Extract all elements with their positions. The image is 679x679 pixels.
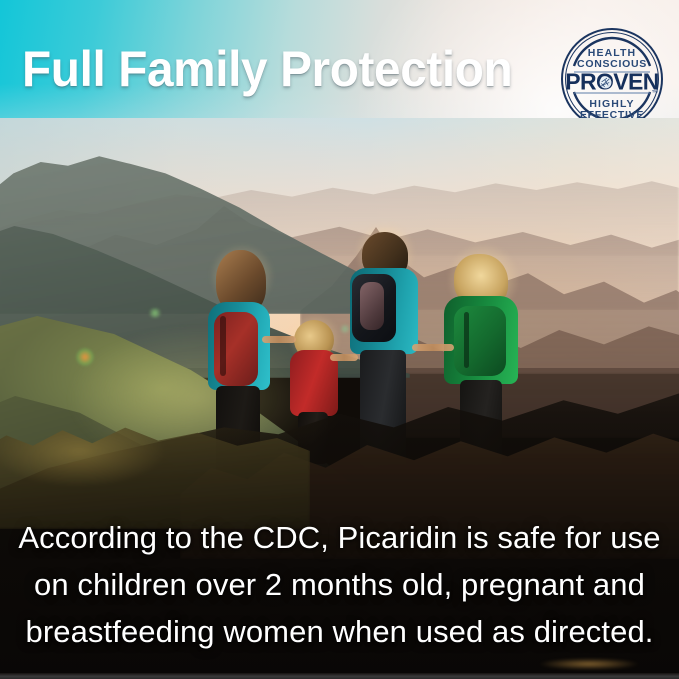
proven-badge-graphic: HEALTH CONSCIOUS PROVEN HIGHLY EFFECTIVE… xyxy=(560,27,664,131)
joined-hands-woman-toddler xyxy=(262,336,296,343)
proven-badge: HEALTH CONSCIOUS PROVEN HIGHLY EFFECTIVE… xyxy=(560,27,664,131)
badge-wordmark: PROVEN xyxy=(565,69,659,95)
page-title: Full Family Protection xyxy=(22,38,519,100)
bottom-edge-strip xyxy=(0,673,679,679)
woman-backpack-strap xyxy=(220,316,226,376)
caption-line-3: breastfeeding women when used as directe… xyxy=(0,608,679,655)
joined-hands-boy-girl xyxy=(412,344,454,351)
joined-hands-toddler-boy xyxy=(330,354,358,361)
girl-backpack-strap xyxy=(464,312,469,368)
caption-line-2: on children over 2 months old, pregnant … xyxy=(0,561,679,608)
girl-backpack xyxy=(454,306,506,376)
product-lifestyle-image: Full Family Protection HEALTH CONSCIOUS … xyxy=(0,0,679,679)
mosquito-icon xyxy=(600,77,612,89)
boy-backpack-trim xyxy=(360,282,384,330)
caption-line-1: According to the CDC, Picaridin is safe … xyxy=(0,514,679,561)
caption-block: According to the CDC, Picaridin is safe … xyxy=(0,514,679,655)
foreground-lit-edge xyxy=(499,653,649,675)
trademark-symbol: ™ xyxy=(652,90,659,97)
